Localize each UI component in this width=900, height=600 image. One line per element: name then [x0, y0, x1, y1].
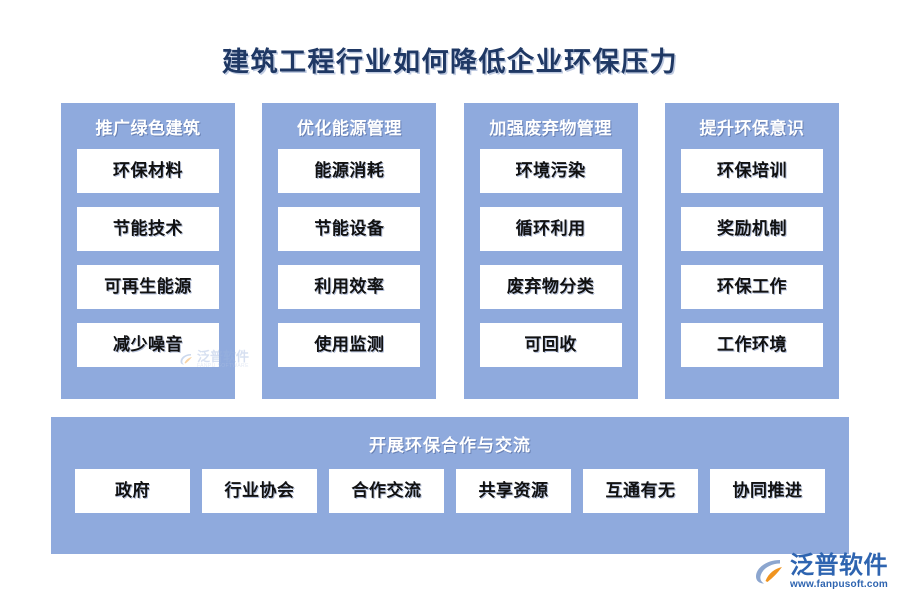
bottom-panel-header: 开展环保合作与交流 [73, 431, 827, 469]
fanpu-logo-icon [752, 555, 786, 589]
column-panel-3: 加强废弃物管理 环境污染 循环利用 废弃物分类 可回收 [464, 103, 638, 399]
item-box[interactable]: 环境污染 [480, 149, 622, 193]
item-box[interactable]: 废弃物分类 [480, 265, 622, 309]
item-box[interactable]: 利用效率 [278, 265, 420, 309]
item-box[interactable]: 协同推进 [710, 469, 825, 513]
item-box[interactable]: 可再生能源 [77, 265, 219, 309]
item-box[interactable]: 减少噪音 [77, 323, 219, 367]
column-items-4: 环保培训 奖励机制 环保工作 工作环境 [681, 149, 823, 385]
item-box[interactable]: 奖励机制 [681, 207, 823, 251]
item-box[interactable]: 节能设备 [278, 207, 420, 251]
column-items-3: 环境污染 循环利用 废弃物分类 可回收 [480, 149, 622, 385]
item-box[interactable]: 工作环境 [681, 323, 823, 367]
column-header-4: 提升环保意识 [681, 115, 823, 149]
item-box[interactable]: 行业协会 [202, 469, 317, 513]
column-group: 推广绿色建筑 环保材料 节能技术 可再生能源 减少噪音 优化能源管理 能源消耗 … [61, 103, 839, 399]
bottom-panel-items: 政府 行业协会 合作交流 共享资源 互通有无 协同推进 [73, 469, 827, 536]
brand-name: 泛普软件 [790, 554, 888, 578]
item-box[interactable]: 合作交流 [329, 469, 444, 513]
column-items-1: 环保材料 节能技术 可再生能源 减少噪音 [77, 149, 219, 385]
bottom-panel: 开展环保合作与交流 政府 行业协会 合作交流 共享资源 互通有无 协同推进 [51, 417, 849, 554]
item-box[interactable]: 政府 [75, 469, 190, 513]
item-box[interactable]: 环保工作 [681, 265, 823, 309]
item-box[interactable]: 可回收 [480, 323, 622, 367]
item-box[interactable]: 环保材料 [77, 149, 219, 193]
item-box[interactable]: 共享资源 [456, 469, 571, 513]
page-title: 建筑工程行业如何降低企业环保压力 [0, 40, 900, 79]
column-header-2: 优化能源管理 [278, 115, 420, 149]
item-box[interactable]: 循环利用 [480, 207, 622, 251]
column-panel-2: 优化能源管理 能源消耗 节能设备 利用效率 使用监测 [262, 103, 436, 399]
item-box[interactable]: 节能技术 [77, 207, 219, 251]
column-header-1: 推广绿色建筑 [77, 115, 219, 149]
item-box[interactable]: 互通有无 [583, 469, 698, 513]
column-header-3: 加强废弃物管理 [480, 115, 622, 149]
column-panel-4: 提升环保意识 环保培训 奖励机制 环保工作 工作环境 [665, 103, 839, 399]
brand-logo: 泛普软件 www.fanpusoft.com [752, 550, 892, 594]
item-box[interactable]: 使用监测 [278, 323, 420, 367]
item-box[interactable]: 环保培训 [681, 149, 823, 193]
column-items-2: 能源消耗 节能设备 利用效率 使用监测 [278, 149, 420, 385]
brand-url: www.fanpusoft.com [790, 580, 888, 590]
item-box[interactable]: 能源消耗 [278, 149, 420, 193]
column-panel-1: 推广绿色建筑 环保材料 节能技术 可再生能源 减少噪音 [61, 103, 235, 399]
brand-text: 泛普软件 www.fanpusoft.com [790, 554, 888, 590]
infographic-page: 建筑工程行业如何降低企业环保压力 推广绿色建筑 环保材料 节能技术 可再生能源 … [0, 0, 900, 600]
